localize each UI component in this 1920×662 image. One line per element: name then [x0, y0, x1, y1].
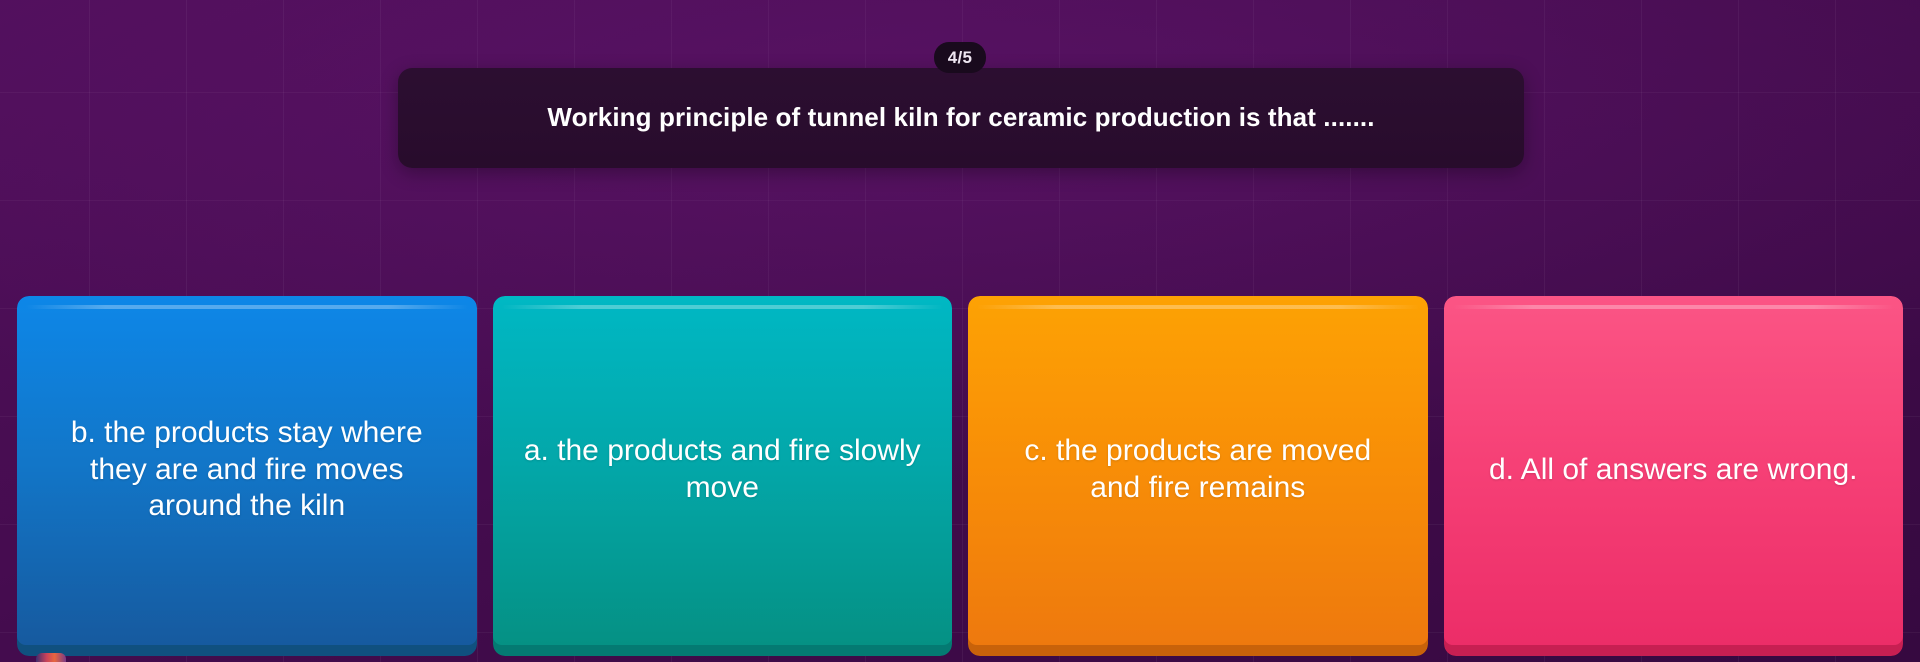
question-text: Working principle of tunnel kiln for cer…	[547, 101, 1374, 135]
answer-option-c-label: c. the products are moved and fire remai…	[998, 433, 1397, 506]
player-avatar-icon	[36, 653, 66, 662]
answer-option-d-label: d. All of answers are wrong.	[1489, 452, 1858, 489]
answer-option-a-label: a. the products and fire slowly move	[523, 433, 922, 506]
answer-option-b-label: b. the products stay where they are and …	[47, 415, 446, 525]
answer-option-a[interactable]: a. the products and fire slowly move	[493, 296, 953, 656]
answer-option-d[interactable]: d. All of answers are wrong.	[1444, 296, 1904, 656]
answer-options-grid: b. the products stay where they are and …	[17, 296, 1903, 662]
answer-option-b[interactable]: b. the products stay where they are and …	[17, 296, 477, 656]
answer-option-c[interactable]: c. the products are moved and fire remai…	[968, 296, 1428, 656]
question-card: Working principle of tunnel kiln for cer…	[398, 68, 1524, 168]
quiz-screen: 4/5 Working principle of tunnel kiln for…	[0, 0, 1920, 662]
question-counter-badge: 4/5	[934, 42, 986, 73]
